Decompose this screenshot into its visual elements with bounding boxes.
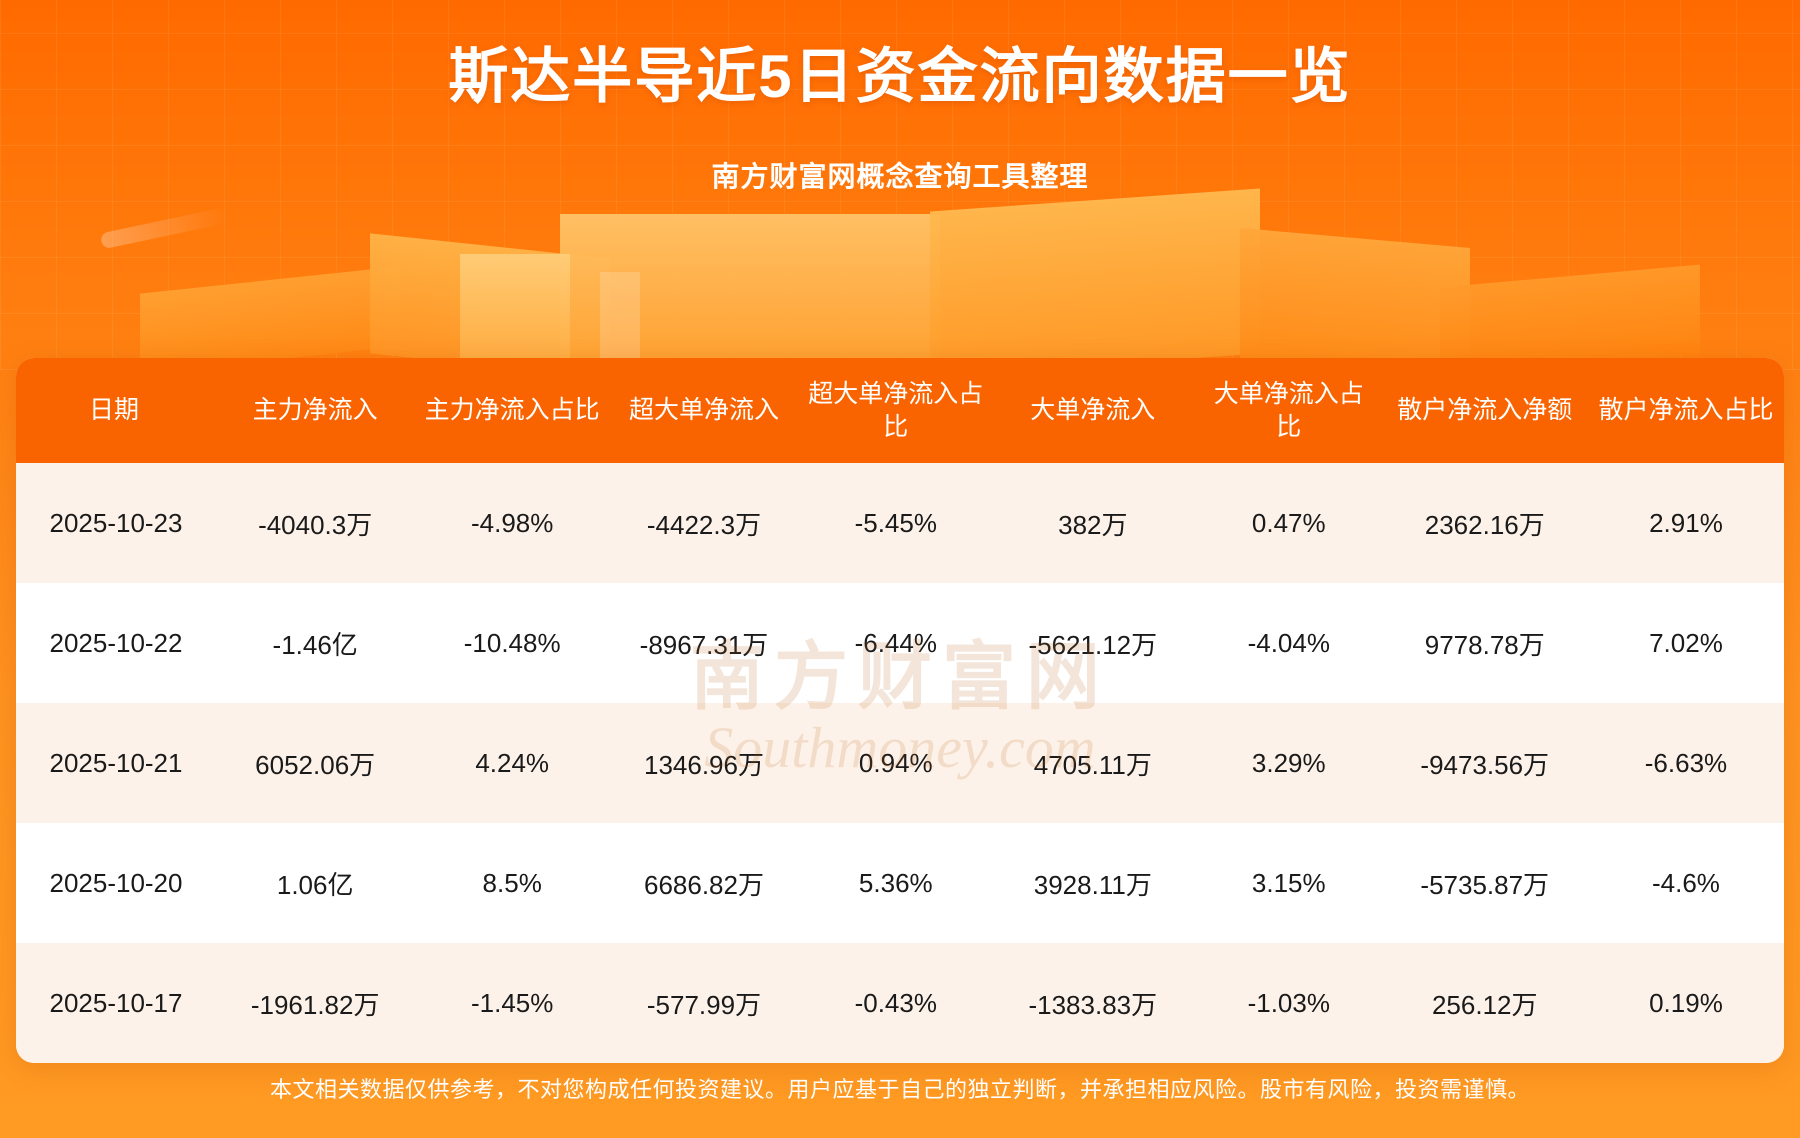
table-header-row: 日期 主力净流入 主力净流入占比 超大单净流入 超大单净流入占比 大单净流入 大… <box>16 358 1784 463</box>
cell-main-net: 1.06亿 <box>212 823 418 943</box>
page-subtitle: 南方财富网概念查询工具整理 <box>0 155 1800 195</box>
light-streak-1 <box>100 207 230 250</box>
column-header-xl-pct[interactable]: 超大单净流入占比 <box>802 358 990 463</box>
cell-main-pct: 4.24% <box>418 703 606 823</box>
cell-main-net: -4040.3万 <box>212 463 418 583</box>
decorative-podium <box>0 180 1800 380</box>
cell-xl-pct: 0.94% <box>802 703 990 823</box>
column-header-lg-pct[interactable]: 大单净流入占比 <box>1196 358 1382 463</box>
table-row: 2025-10-23 -4040.3万 -4.98% -4422.3万 -5.4… <box>16 463 1784 583</box>
column-header-lg-net[interactable]: 大单净流入 <box>990 358 1196 463</box>
column-header-main-net[interactable]: 主力净流入 <box>212 358 418 463</box>
table-head: 日期 主力净流入 主力净流入占比 超大单净流入 超大单净流入占比 大单净流入 大… <box>16 358 1784 463</box>
cell-xl-net: -8967.31万 <box>606 583 802 703</box>
podium-block-b <box>370 233 610 378</box>
cell-main-net: -1961.82万 <box>212 943 418 1063</box>
podium-block-h <box>600 272 640 364</box>
fund-flow-table-card: 日期 主力净流入 主力净流入占比 超大单净流入 超大单净流入占比 大单净流入 大… <box>16 358 1784 1063</box>
column-header-retail-net[interactable]: 散户净流入净额 <box>1382 358 1588 463</box>
cell-retail-pct: -6.63% <box>1588 703 1784 823</box>
cell-retail-net: -9473.56万 <box>1382 703 1588 823</box>
cell-retail-net: 256.12万 <box>1382 943 1588 1063</box>
cell-xl-pct: -5.45% <box>802 463 990 583</box>
column-header-date[interactable]: 日期 <box>16 358 212 463</box>
cell-retail-net: 9778.78万 <box>1382 583 1588 703</box>
cell-lg-net: 4705.11万 <box>990 703 1196 823</box>
cell-date: 2025-10-22 <box>16 583 212 703</box>
fund-flow-table: 日期 主力净流入 主力净流入占比 超大单净流入 超大单净流入占比 大单净流入 大… <box>16 358 1784 1063</box>
cell-xl-net: 6686.82万 <box>606 823 802 943</box>
cell-retail-pct: 2.91% <box>1588 463 1784 583</box>
cell-lg-net: 3928.11万 <box>990 823 1196 943</box>
cell-date: 2025-10-20 <box>16 823 212 943</box>
cell-main-pct: 8.5% <box>418 823 606 943</box>
cell-lg-net: -1383.83万 <box>990 943 1196 1063</box>
table-body: 2025-10-23 -4040.3万 -4.98% -4422.3万 -5.4… <box>16 463 1784 1063</box>
cell-lg-pct: 0.47% <box>1196 463 1382 583</box>
cell-date: 2025-10-23 <box>16 463 212 583</box>
cell-lg-net: 382万 <box>990 463 1196 583</box>
cell-date: 2025-10-21 <box>16 703 212 823</box>
column-header-xl-net[interactable]: 超大单净流入 <box>606 358 802 463</box>
cell-xl-pct: 5.36% <box>802 823 990 943</box>
table-row: 2025-10-21 6052.06万 4.24% 1346.96万 0.94%… <box>16 703 1784 823</box>
poster-root: 斯达半导近5日资金流向数据一览 南方财富网概念查询工具整理 南方财富网 Sout… <box>0 0 1800 1138</box>
podium-block-d <box>930 188 1260 376</box>
cell-main-pct: -1.45% <box>418 943 606 1063</box>
column-header-retail-pct[interactable]: 散户净流入占比 <box>1588 358 1784 463</box>
podium-block-g <box>460 254 570 364</box>
cell-retail-pct: -4.6% <box>1588 823 1784 943</box>
page-title: 斯达半导近5日资金流向数据一览 <box>0 42 1800 113</box>
cell-main-pct: -4.98% <box>418 463 606 583</box>
cell-xl-pct: -6.44% <box>802 583 990 703</box>
cell-xl-net: 1346.96万 <box>606 703 802 823</box>
cell-xl-net: -4422.3万 <box>606 463 802 583</box>
cell-retail-net: 2362.16万 <box>1382 463 1588 583</box>
cell-retail-net: -5735.87万 <box>1382 823 1588 943</box>
disclaimer-text: 本文相关数据仅供参考，不对您构成任何投资建议。用户应基于自己的独立判断，并承担相… <box>0 1072 1800 1104</box>
hero-section: 斯达半导近5日资金流向数据一览 南方财富网概念查询工具整理 <box>0 0 1800 195</box>
cell-lg-pct: 3.29% <box>1196 703 1382 823</box>
cell-xl-net: -577.99万 <box>606 943 802 1063</box>
table-row: 2025-10-22 -1.46亿 -10.48% -8967.31万 -6.4… <box>16 583 1784 703</box>
cell-lg-pct: -4.04% <box>1196 583 1382 703</box>
cell-xl-pct: -0.43% <box>802 943 990 1063</box>
cell-lg-pct: -1.03% <box>1196 943 1382 1063</box>
podium-block-c <box>560 214 940 364</box>
cell-date: 2025-10-17 <box>16 943 212 1063</box>
cell-retail-pct: 7.02% <box>1588 583 1784 703</box>
podium-block-e <box>1240 228 1470 378</box>
cell-main-pct: -10.48% <box>418 583 606 703</box>
table-row: 2025-10-20 1.06亿 8.5% 6686.82万 5.36% 392… <box>16 823 1784 943</box>
cell-retail-pct: 0.19% <box>1588 943 1784 1063</box>
cell-main-net: 6052.06万 <box>212 703 418 823</box>
table-row: 2025-10-17 -1961.82万 -1.45% -577.99万 -0.… <box>16 943 1784 1063</box>
cell-lg-net: -5621.12万 <box>990 583 1196 703</box>
column-header-main-pct[interactable]: 主力净流入占比 <box>418 358 606 463</box>
cell-main-net: -1.46亿 <box>212 583 418 703</box>
cell-lg-pct: 3.15% <box>1196 823 1382 943</box>
